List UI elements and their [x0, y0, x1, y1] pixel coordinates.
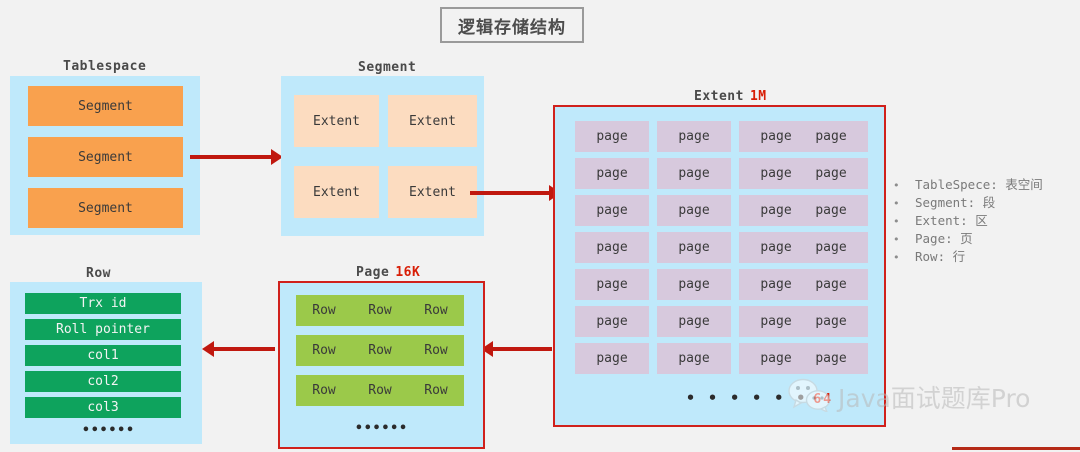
- page-block[interactable]: page: [575, 158, 649, 189]
- row-container: Trx id Roll pointer col1 col2 col3 •••••…: [10, 282, 202, 444]
- arrow-head-icon: [202, 341, 214, 357]
- page-block[interactable]: page: [657, 232, 731, 263]
- extent-caption: Extent1M: [694, 89, 767, 104]
- extent-size: 1M: [750, 89, 767, 104]
- row-block[interactable]: Row: [352, 335, 408, 366]
- row-block[interactable]: Row: [296, 295, 352, 326]
- legend-item-label: Segment: 段: [915, 194, 995, 211]
- page-block[interactable]: page: [575, 232, 649, 263]
- page-block[interactable]: page: [575, 195, 649, 226]
- row-field[interactable]: col2: [25, 371, 181, 392]
- page-block[interactable]: page: [657, 158, 731, 189]
- page-block[interactable]: page: [575, 343, 649, 374]
- page-block[interactable]: page: [794, 232, 868, 263]
- extent-container: page page page page page page page page …: [553, 105, 886, 427]
- segment-container: Extent Extent Extent Extent: [281, 76, 484, 236]
- row-block[interactable]: Row: [408, 295, 464, 326]
- row-block[interactable]: Row: [408, 335, 464, 366]
- page-container: Row Row Row Row Row Row Row Row Row ••••…: [278, 281, 485, 449]
- page-block[interactable]: page: [657, 343, 731, 374]
- bullet-icon: •: [893, 249, 915, 266]
- extent-ellipsis: • • • • • •64: [686, 389, 833, 407]
- page-block[interactable]: page: [575, 306, 649, 337]
- legend-item-label: Page: 页: [915, 230, 973, 247]
- segment-block[interactable]: Segment: [28, 188, 183, 228]
- page-block[interactable]: page: [657, 121, 731, 152]
- row-caption: Row: [86, 266, 111, 281]
- segment-block[interactable]: Segment: [28, 86, 183, 126]
- row-field[interactable]: Trx id: [25, 293, 181, 314]
- extent-block[interactable]: Extent: [388, 95, 477, 147]
- page-title: 逻辑存储结构: [440, 7, 584, 43]
- segment-block[interactable]: Segment: [28, 137, 183, 177]
- legend-item-row: • Row: 行: [893, 248, 1043, 266]
- tablespace-caption: Tablespace: [63, 59, 146, 74]
- page-block[interactable]: page: [657, 306, 731, 337]
- legend-item-label: Extent: 区: [915, 212, 988, 229]
- row-block[interactable]: Row: [352, 295, 408, 326]
- segment-caption: Segment: [358, 60, 416, 75]
- row-block[interactable]: Row: [296, 375, 352, 406]
- page-block[interactable]: page: [575, 269, 649, 300]
- legend-item-page: • Page: 页: [893, 230, 1043, 248]
- extent-block[interactable]: Extent: [294, 166, 379, 218]
- page-caption: Page16K: [356, 265, 420, 280]
- page-block[interactable]: page: [657, 269, 731, 300]
- page-block[interactable]: page: [794, 306, 868, 337]
- row-field[interactable]: col1: [25, 345, 181, 366]
- arrow-segment-to-extent: [470, 191, 550, 195]
- row-field[interactable]: Roll pointer: [25, 319, 181, 340]
- bullet-icon: •: [893, 231, 915, 248]
- bullet-icon: •: [893, 195, 915, 212]
- page-block[interactable]: page: [794, 158, 868, 189]
- tablespace-container: Segment Segment Segment: [10, 76, 200, 235]
- row-block[interactable]: Row: [296, 335, 352, 366]
- page-block[interactable]: page: [794, 195, 868, 226]
- page-block[interactable]: page: [794, 343, 868, 374]
- page-block[interactable]: page: [794, 121, 868, 152]
- extent-block[interactable]: Extent: [294, 95, 379, 147]
- bullet-icon: •: [893, 213, 915, 230]
- page-block[interactable]: page: [657, 195, 731, 226]
- row-ellipsis: ••••••: [82, 423, 135, 438]
- legend-list: • TableSpece: 表空间 • Segment: 段 • Extent:…: [893, 176, 1043, 266]
- bullet-icon: •: [893, 177, 915, 194]
- arrow-page-to-row: [213, 347, 275, 351]
- bottom-rule: [952, 447, 1080, 450]
- arrow-extent-to-page: [492, 347, 552, 351]
- row-block[interactable]: Row: [408, 375, 464, 406]
- page-block[interactable]: page: [575, 121, 649, 152]
- legend-item-label: TableSpece: 表空间: [915, 176, 1043, 193]
- page-block[interactable]: page: [794, 269, 868, 300]
- extent-page-count: 64: [813, 392, 833, 407]
- legend-item-label: Row: 行: [915, 248, 965, 265]
- diagram-canvas: 逻辑存储结构 Tablespace Segment Segment Segmen…: [0, 0, 1080, 452]
- legend-item-tablespace: • TableSpece: 表空间: [893, 176, 1043, 194]
- extent-block[interactable]: Extent: [388, 166, 477, 218]
- legend-item-segment: • Segment: 段: [893, 194, 1043, 212]
- legend-item-extent: • Extent: 区: [893, 212, 1043, 230]
- page-ellipsis: ••••••: [355, 421, 408, 436]
- row-field[interactable]: col3: [25, 397, 181, 418]
- arrow-tablespace-to-segment: [190, 155, 272, 159]
- row-block[interactable]: Row: [352, 375, 408, 406]
- page-size: 16K: [395, 265, 420, 280]
